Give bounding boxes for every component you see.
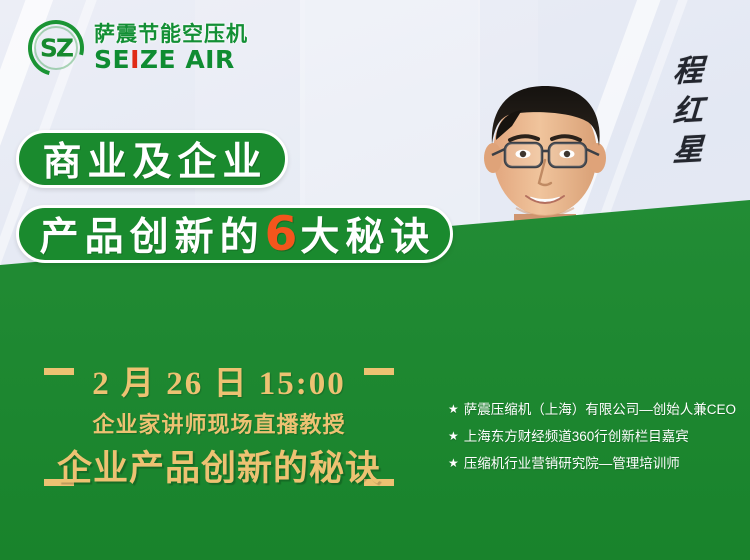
brand-en-part2: ZE AIR	[140, 45, 235, 74]
speaker-name-calligraphy: 程 红 星	[664, 52, 712, 171]
headline-line-1: 商业及企业	[42, 131, 267, 187]
credential-text: 上海东方财经频道360行创新栏目嘉宾	[464, 423, 689, 450]
headline-pill-primary: 商业及企业	[16, 130, 288, 188]
brand-en-accent-letter: I	[130, 45, 140, 74]
event-datetime: 2 月 26 日 15:00	[44, 356, 394, 404]
star-icon: ★	[448, 423, 459, 450]
credential-item: ★ 压缩机行业营销研究院—管理培训师	[448, 450, 744, 477]
star-icon: ★	[448, 396, 459, 423]
headline-line-2-prefix: 产品创新的	[40, 206, 265, 262]
speaker-name-char-2: 红	[663, 90, 713, 132]
speaker-credentials-list: ★ 萨震压缩机（上海）有限公司—创始人兼CEO ★ 上海东方财经频道360行创新…	[448, 396, 744, 477]
logo-monogram: SZ	[26, 34, 86, 63]
credential-item: ★ 上海东方财经频道360行创新栏目嘉宾	[448, 423, 744, 450]
speaker-name-char-1: 程	[663, 51, 713, 93]
brand-name-en: SEIZE AIR	[94, 47, 248, 73]
brand-wordmark: 萨震节能空压机 SEIZE AIR	[94, 23, 248, 73]
headline-secret-count: 6	[265, 207, 298, 262]
speaker-name-char-3: 星	[663, 130, 713, 172]
brand-name-cn: 萨震节能空压机	[94, 23, 248, 46]
star-icon: ★	[448, 450, 459, 477]
promo-poster: SZ 萨震节能空压机 SEIZE AIR 商业及企业 产品创新的6大秘诀 程 红…	[0, 0, 750, 560]
credential-text: 压缩机行业营销研究院—管理培训师	[464, 450, 680, 477]
headline-line-2-suffix: 大秘诀	[300, 206, 435, 262]
event-subtitle: 企业家讲师现场直播教授	[44, 407, 394, 439]
logo-mark-icon: SZ	[26, 18, 86, 78]
brand-en-part1: SE	[94, 45, 130, 74]
event-detail-bracket: 2 月 26 日 15:00 企业家讲师现场直播教授 企业产品创新的秘诀	[44, 368, 394, 486]
headline-pill-secondary: 产品创新的6大秘诀	[16, 205, 453, 263]
brand-logo[interactable]: SZ 萨震节能空压机 SEIZE AIR	[26, 18, 248, 78]
credential-text: 萨震压缩机（上海）有限公司—创始人兼CEO	[464, 396, 736, 423]
credential-item: ★ 萨震压缩机（上海）有限公司—创始人兼CEO	[448, 396, 744, 423]
event-topic: 企业产品创新的秘诀	[44, 440, 394, 491]
